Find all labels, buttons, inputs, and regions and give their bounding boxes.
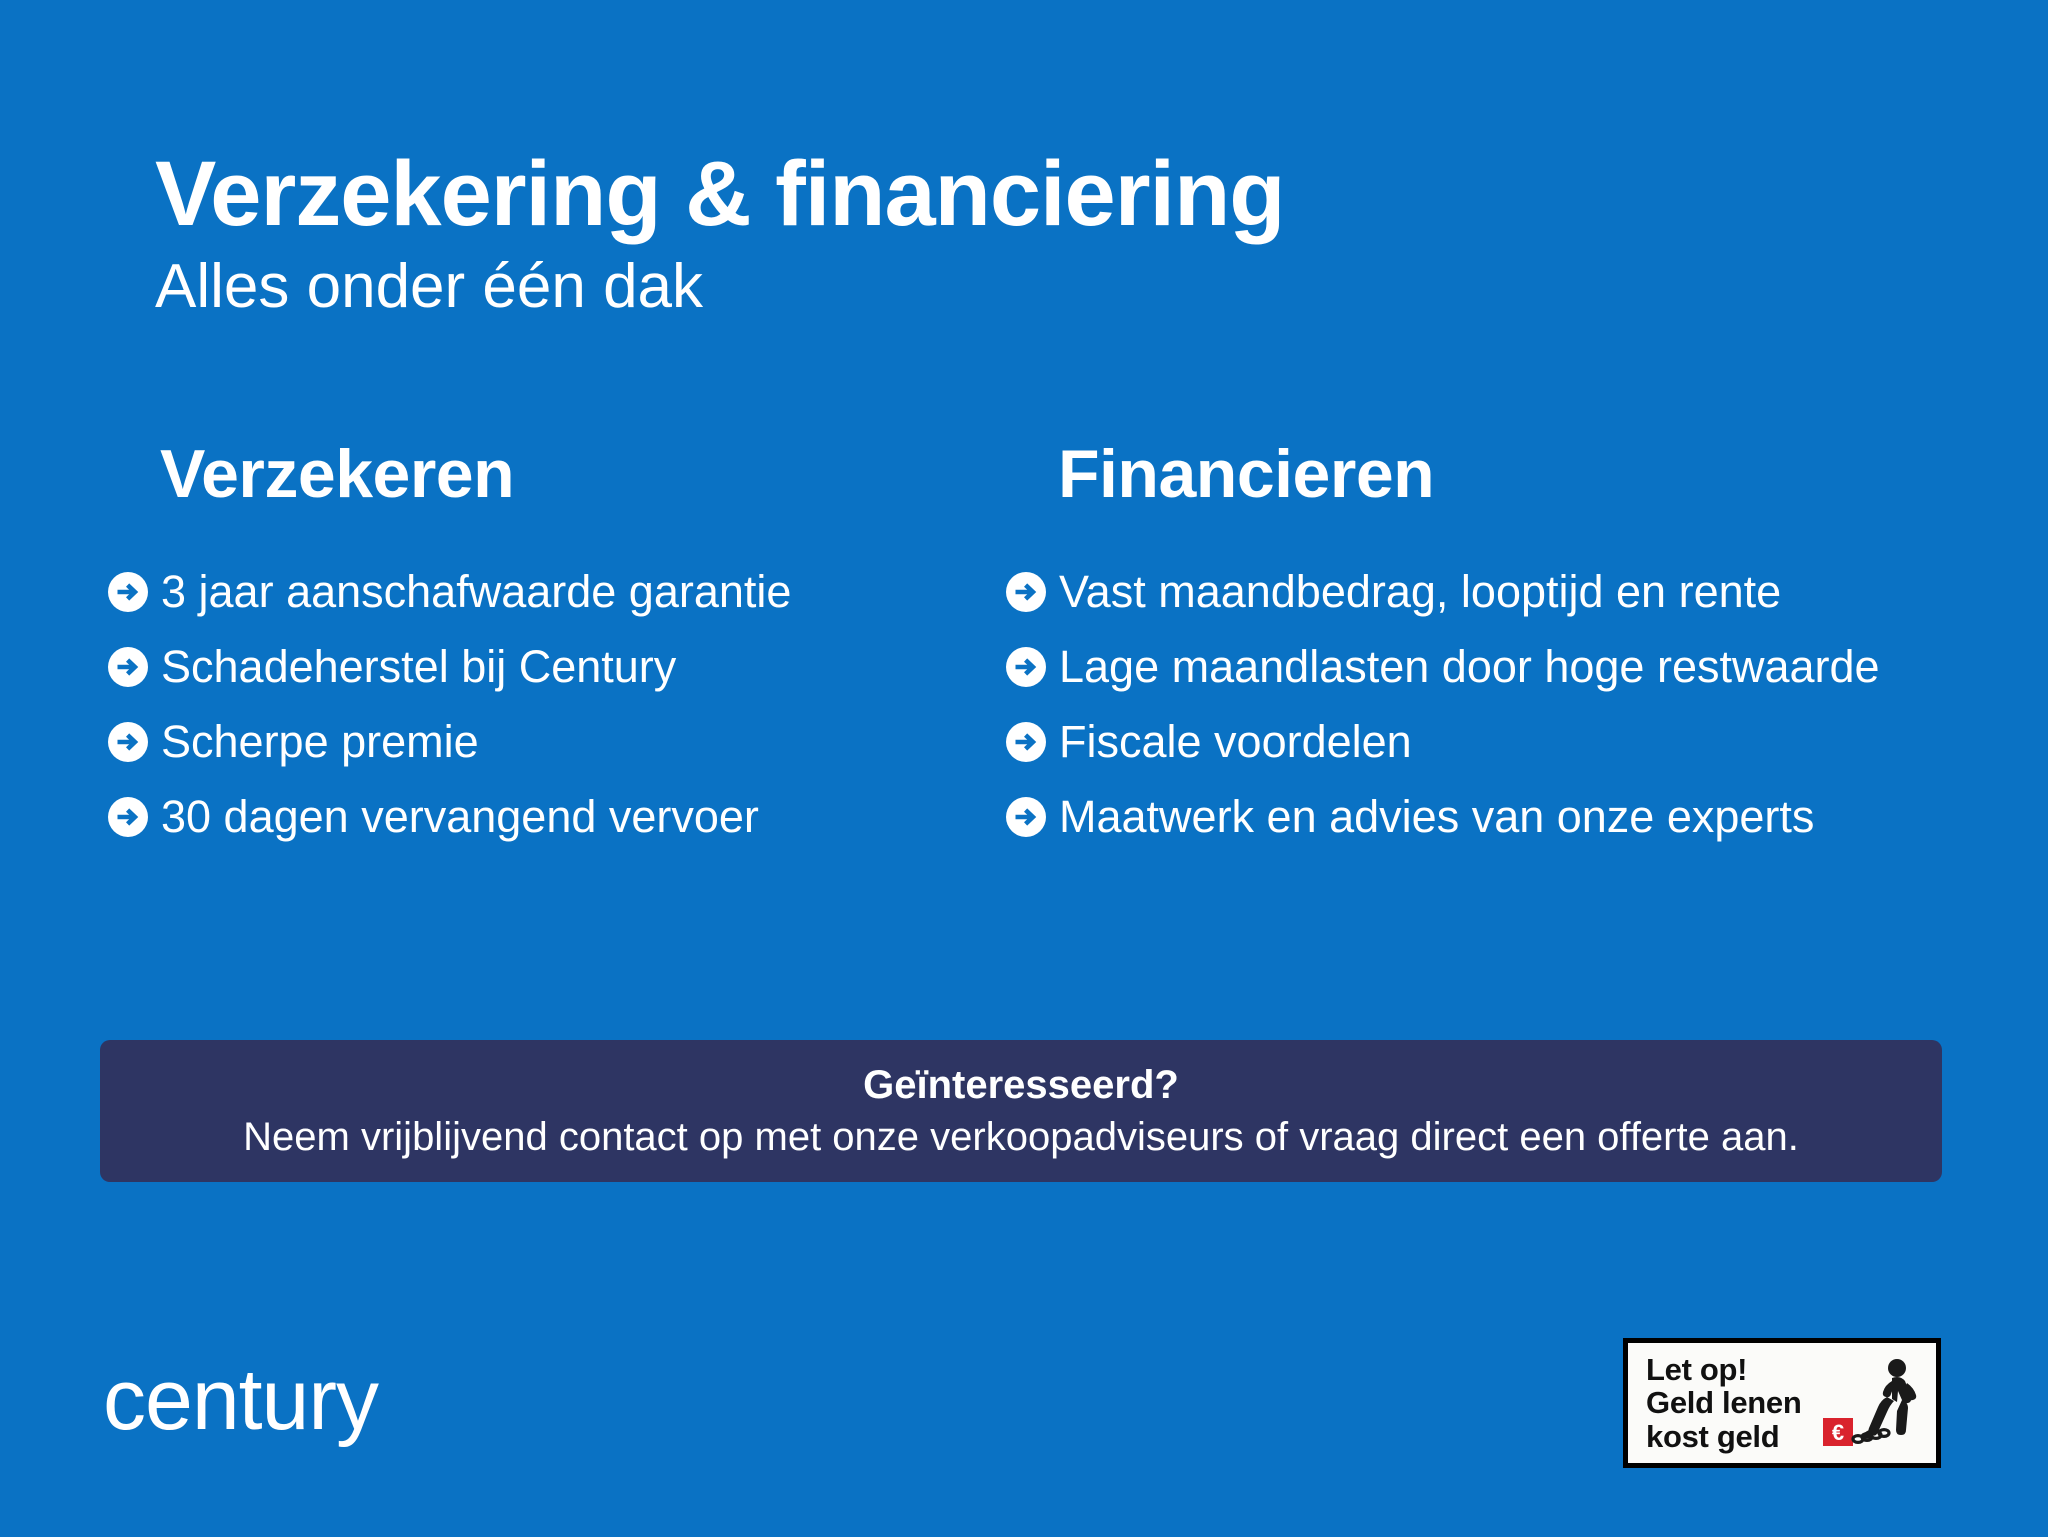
- circle-arrow-right-icon: [1006, 722, 1046, 762]
- list-item-label: Vast maandbedrag, looptijd en rente: [1059, 569, 1781, 614]
- feature-column-verzekeren: Verzekeren 3 jaar aanschafwaarde garanti…: [160, 440, 990, 854]
- feature-column-financieren: Financieren Vast maandbedrag, looptijd e…: [1058, 440, 1998, 854]
- list-item-label: 30 dagen vervangend vervoer: [161, 794, 759, 839]
- benefit-list-financieren: Vast maandbedrag, looptijd en rente Lage…: [1058, 554, 1998, 854]
- list-item: Maatwerk en advies van onze experts: [1006, 779, 1998, 854]
- svg-text:€: €: [1832, 1420, 1844, 1445]
- circle-arrow-right-icon: [1006, 647, 1046, 687]
- list-item-label: Schadeherstel bij Century: [161, 644, 676, 689]
- list-item: 3 jaar aanschafwaarde garantie: [108, 554, 990, 629]
- circle-arrow-right-icon: [1006, 572, 1046, 612]
- benefit-list-verzekeren: 3 jaar aanschafwaarde garantie Schadeher…: [160, 554, 990, 854]
- circle-arrow-right-icon: [1006, 797, 1046, 837]
- list-item: Scherpe premie: [108, 704, 990, 779]
- list-item-label: 3 jaar aanschafwaarde garantie: [161, 569, 791, 614]
- century-logo: century: [103, 1357, 378, 1443]
- list-item: Lage maandlasten door hoge restwaarde: [1006, 629, 1998, 704]
- circle-arrow-right-icon: [108, 572, 148, 612]
- list-item: Fiscale voordelen: [1006, 704, 1998, 779]
- list-item-label: Scherpe premie: [161, 719, 479, 764]
- list-item: Vast maandbedrag, looptijd en rente: [1006, 554, 1998, 629]
- list-item: Schadeherstel bij Century: [108, 629, 990, 704]
- cta-heading: Geïnteresseerd?: [863, 1061, 1179, 1109]
- circle-arrow-right-icon: [108, 647, 148, 687]
- column-heading-verzekeren: Verzekeren: [160, 440, 990, 508]
- walking-person-with-euro-ball-and-chain-icon: €: [1822, 1356, 1926, 1460]
- list-item-label: Maatwerk en advies van onze experts: [1059, 794, 1814, 839]
- feature-columns: Verzekeren 3 jaar aanschafwaarde garanti…: [0, 440, 2048, 840]
- page-title: Verzekering & financiering: [155, 148, 1855, 242]
- header: Verzekering & financiering Alles onder é…: [155, 148, 1855, 323]
- list-item-label: Fiscale voordelen: [1059, 719, 1412, 764]
- column-heading-financieren: Financieren: [1058, 440, 1998, 508]
- circle-arrow-right-icon: [108, 797, 148, 837]
- cta-text: Neem vrijblijvend contact op met onze ve…: [243, 1113, 1799, 1161]
- circle-arrow-right-icon: [108, 722, 148, 762]
- cta-banner[interactable]: Geïnteresseerd? Neem vrijblijvend contac…: [100, 1040, 1942, 1182]
- slide-canvas: Verzekering & financiering Alles onder é…: [0, 0, 2048, 1537]
- page-subtitle: Alles onder één dak: [155, 250, 1855, 323]
- list-item: 30 dagen vervangend vervoer: [108, 779, 990, 854]
- list-item-label: Lage maandlasten door hoge restwaarde: [1059, 644, 1880, 689]
- afm-warning-label: Let op! Geld lenen kost geld €: [1623, 1338, 1941, 1468]
